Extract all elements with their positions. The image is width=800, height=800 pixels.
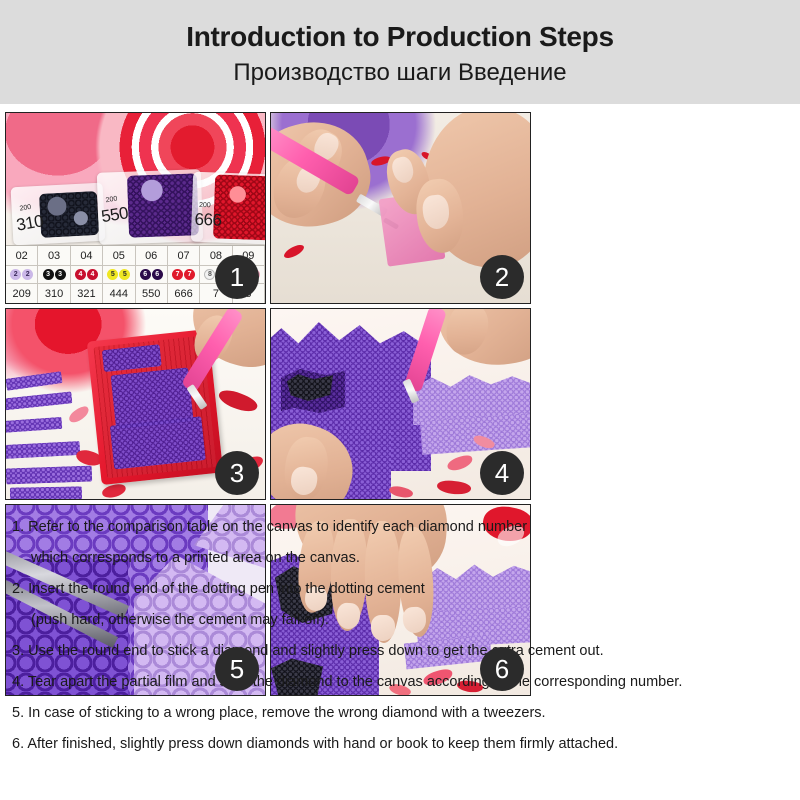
color-dot-icon: 2 <box>10 269 21 280</box>
comparison-table-column: 0555444 <box>103 246 135 303</box>
page-title-russian: Производство шаги Введение <box>233 58 566 88</box>
table-symbol-cell: 33 <box>38 265 69 284</box>
bag-size-label: 200 <box>19 204 32 213</box>
comparison-table-column: 0222209 <box>6 246 38 303</box>
color-dot-icon: 3 <box>43 269 54 280</box>
instruction-line: 2. Insert the round end of the dotting p… <box>12 574 800 605</box>
color-dot-icon: 6 <box>152 269 163 280</box>
color-dot-icon: 2 <box>22 269 33 280</box>
diamond-bag-310: 200 310 <box>11 183 106 246</box>
color-dot-icon: 8 <box>204 269 215 280</box>
purple-beads <box>127 173 199 237</box>
color-dot-icon: 5 <box>119 269 130 280</box>
color-dot-icon: 6 <box>140 269 151 280</box>
table-symbol-cell: 55 <box>103 265 134 284</box>
step-panel-1: 200 310 200 550 200 666 0222209033331004… <box>5 112 266 304</box>
black-beads <box>39 191 99 238</box>
table-symbol-cell: 66 <box>136 265 167 284</box>
instruction-line: 1. Refer to the comparison table on the … <box>12 512 800 543</box>
step-panel-2: 2 <box>270 112 531 304</box>
table-symbol-cell: 44 <box>71 265 102 284</box>
diamond-strip <box>10 486 82 499</box>
color-dot-icon: 5 <box>107 269 118 280</box>
comparison-table-column: 0333310 <box>38 246 70 303</box>
table-code-cell: 310 <box>38 284 69 303</box>
diamond-strip <box>6 466 92 485</box>
page-title-english: Introduction to Production Steps <box>186 20 613 54</box>
step-panel-3: 3 <box>5 308 266 500</box>
color-dot-icon: 7 <box>184 269 195 280</box>
bag-code-label: 550 <box>100 203 130 227</box>
instruction-line: 5. In case of sticking to a wrong place,… <box>12 698 800 729</box>
table-header-cell: 06 <box>136 246 167 265</box>
table-code-cell: 209 <box>6 284 37 303</box>
instruction-line: (push hard, otherwise the cement may fal… <box>12 605 800 636</box>
color-dot-icon: 4 <box>75 269 86 280</box>
diamond-bag-550: 200 550 <box>97 169 203 245</box>
instruction-line: 3. Use the round end to stick a diamond … <box>12 636 800 667</box>
table-header-cell: 03 <box>38 246 69 265</box>
color-dot-icon: 7 <box>172 269 183 280</box>
table-code-cell: 321 <box>71 284 102 303</box>
table-symbol-cell: 77 <box>168 265 199 284</box>
step-badge-2: 2 <box>480 255 524 299</box>
comparison-table-column: 0444321 <box>71 246 103 303</box>
comparison-table-column: 0777666 <box>168 246 200 303</box>
instruction-line: 4. Tear apart the partial film and stick… <box>12 667 800 698</box>
table-code-cell: 444 <box>103 284 134 303</box>
color-dot-icon: 3 <box>55 269 66 280</box>
step-badge-3: 3 <box>215 451 259 495</box>
instruction-list: 1. Refer to the comparison table on the … <box>12 512 800 760</box>
table-symbol-cell: 22 <box>6 265 37 284</box>
color-dot-icon: 4 <box>87 269 98 280</box>
instruction-line: 6. After finished, slightly press down d… <box>12 729 800 760</box>
instruction-sheet: Introduction to Production Steps Произво… <box>0 0 800 800</box>
step-badge-5: 5 <box>215 647 259 691</box>
table-header-cell: 04 <box>71 246 102 265</box>
page-header: Introduction to Production Steps Произво… <box>0 0 800 104</box>
table-header-cell: 02 <box>6 246 37 265</box>
table-header-cell: 07 <box>168 246 199 265</box>
table-code-cell: 666 <box>168 284 199 303</box>
step-badge-1: 1 <box>215 255 259 299</box>
step-badge-4: 4 <box>480 451 524 495</box>
step-badge-6: 6 <box>480 647 524 691</box>
bag-size-label: 200 <box>105 195 118 204</box>
table-code-cell: 550 <box>136 284 167 303</box>
instruction-line: which corresponds to a printed area on t… <box>12 543 800 574</box>
step-panel-4: 4 <box>270 308 531 500</box>
diamond-bag-666: 200 666 <box>191 172 265 245</box>
bag-code-label: 666 <box>194 210 222 231</box>
comparison-table-column: 0666550 <box>136 246 168 303</box>
bag-size-label: 200 <box>199 202 211 209</box>
table-header-cell: 05 <box>103 246 134 265</box>
